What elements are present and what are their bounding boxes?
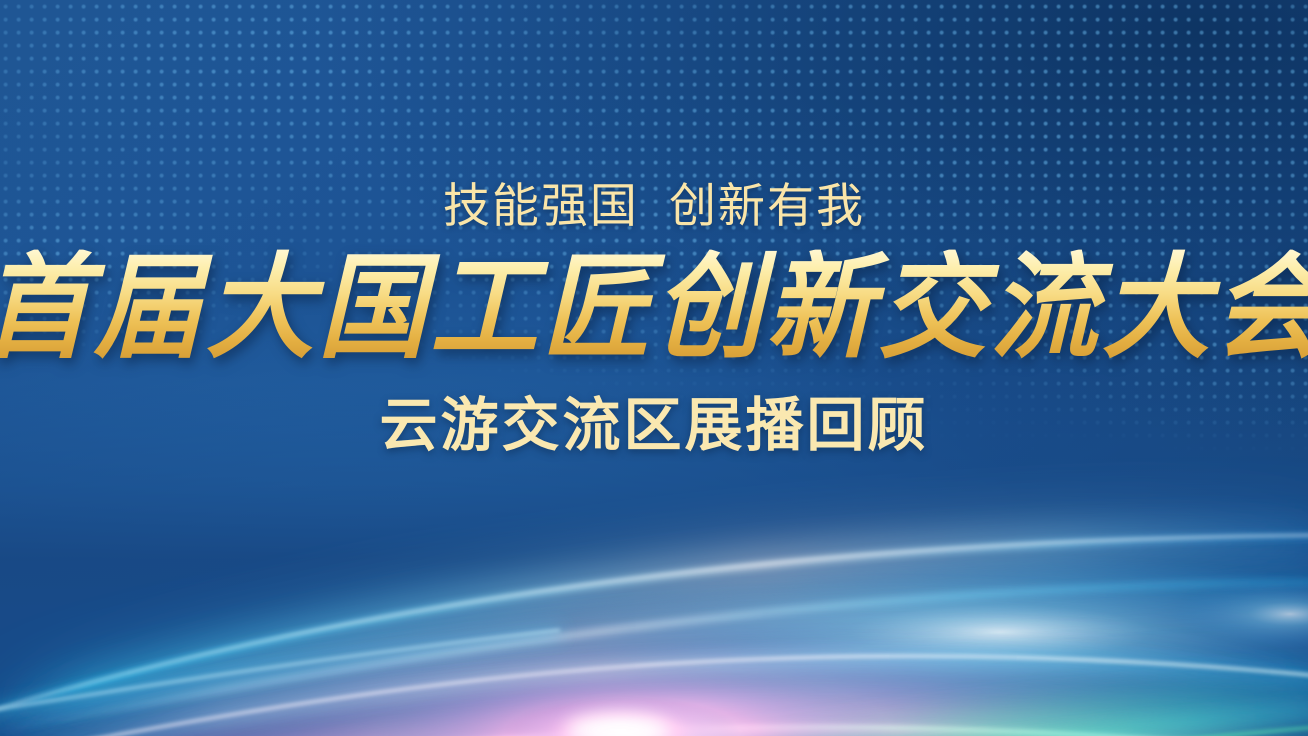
page-title: 首届大国工匠创新交流大会	[0, 250, 1308, 371]
tagline: 技能强国 创新有我	[443, 182, 865, 229]
poster-canvas: 技能强国 创新有我 首届大国工匠创新交流大会 云游交流区展播回顾	[0, 0, 1308, 736]
subtitle: 云游交流区展播回顾	[379, 397, 928, 455]
poster-content: 技能强国 创新有我 首届大国工匠创新交流大会 云游交流区展播回顾	[0, 0, 1308, 736]
